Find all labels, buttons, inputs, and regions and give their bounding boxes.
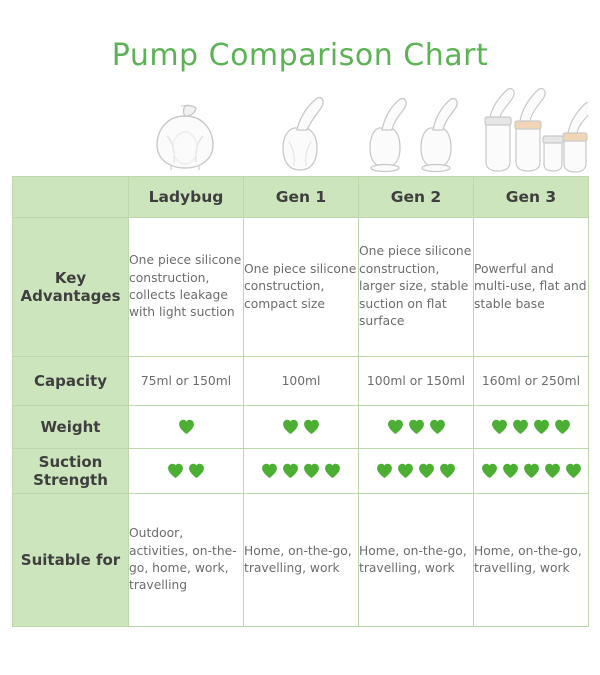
cell-weight-gen1 (244, 406, 359, 449)
cell-key-advantages-ladybug: One piece silicone construction, collect… (129, 218, 244, 357)
row-label-weight: Weight (13, 406, 129, 449)
header-cell-gen2: Gen 2 (359, 177, 474, 218)
heart-icon (324, 463, 341, 479)
table-row-suitable-for: Suitable for Outdoor, activities, on-the… (13, 494, 589, 627)
ladybug-pump-image (128, 82, 242, 176)
row-label-capacity: Capacity (13, 357, 129, 406)
row-label-suction-strength: Suction Strength (13, 449, 129, 494)
heart-icon (491, 419, 508, 435)
cell-weight-gen3 (474, 406, 589, 449)
heart-icon (429, 419, 446, 435)
pump-comparison-chart-page: Pump Comparison Chart (0, 0, 600, 675)
cell-suitable-gen3: Home, on-the-go, travelling, work (474, 494, 589, 627)
heart-icon (502, 463, 519, 479)
cell-capacity-ladybug: 75ml or 150ml (129, 357, 244, 406)
header-cell-gen1: Gen 1 (244, 177, 359, 218)
heart-icon (167, 463, 184, 479)
heart-icon (408, 419, 425, 435)
heart-rating (474, 419, 588, 435)
cell-weight-gen2 (359, 406, 474, 449)
cell-capacity-gen1: 100ml (244, 357, 359, 406)
gen2-pump-image (357, 82, 472, 176)
heart-rating (244, 419, 358, 435)
cell-suction-ladybug (129, 449, 244, 494)
heart-icon (533, 419, 550, 435)
heart-icon (397, 463, 414, 479)
heart-rating (474, 463, 588, 479)
heart-icon (282, 419, 299, 435)
heart-icon (261, 463, 278, 479)
cell-suction-gen2 (359, 449, 474, 494)
cell-capacity-gen3: 160ml or 250ml (474, 357, 589, 406)
heart-rating (129, 419, 243, 435)
heart-icon (439, 463, 456, 479)
cell-suction-gen3 (474, 449, 589, 494)
cell-suitable-gen1: Home, on-the-go, travelling, work (244, 494, 359, 627)
cell-key-advantages-gen3: Powerful and multi-use, flat and stable … (474, 218, 589, 357)
gen3-pump-image (472, 82, 588, 176)
heart-icon (523, 463, 540, 479)
heart-icon (565, 463, 582, 479)
page-title: Pump Comparison Chart (0, 38, 600, 73)
cell-suitable-ladybug: Outdoor, activities, on-the-go, home, wo… (129, 494, 244, 627)
heart-icon (376, 463, 393, 479)
heart-icon (303, 419, 320, 435)
heart-icon (481, 463, 498, 479)
heart-icon (512, 419, 529, 435)
cell-capacity-gen2: 100ml or 150ml (359, 357, 474, 406)
gen1-pump-image (242, 82, 357, 176)
table-row-suction-strength: Suction Strength (13, 449, 589, 494)
heart-rating (244, 463, 358, 479)
heart-rating (359, 463, 473, 479)
cell-key-advantages-gen1: One piece silicone construction, compact… (244, 218, 359, 357)
table-row-key-advantages: Key Advantages One piece silicone constr… (13, 218, 589, 357)
heart-icon (544, 463, 561, 479)
product-image-strip (12, 82, 588, 176)
cell-weight-ladybug (129, 406, 244, 449)
heart-icon (282, 463, 299, 479)
row-label-suitable-for: Suitable for (13, 494, 129, 627)
table-row-capacity: Capacity 75ml or 150ml 100ml 100ml or 15… (13, 357, 589, 406)
table-header-row: Ladybug Gen 1 Gen 2 Gen 3 (13, 177, 589, 218)
heart-icon (178, 419, 195, 435)
cell-key-advantages-gen2: One piece silicone construction, larger … (359, 218, 474, 357)
header-cell-blank (13, 177, 129, 218)
heart-icon (387, 419, 404, 435)
header-cell-ladybug: Ladybug (129, 177, 244, 218)
heart-rating (359, 419, 473, 435)
cell-suction-gen1 (244, 449, 359, 494)
heart-rating (129, 463, 243, 479)
table-row-weight: Weight (13, 406, 589, 449)
heart-icon (188, 463, 205, 479)
heart-icon (303, 463, 320, 479)
row-label-key-advantages: Key Advantages (13, 218, 129, 357)
heart-icon (554, 419, 571, 435)
cell-suitable-gen2: Home, on-the-go, travelling, work (359, 494, 474, 627)
header-cell-gen3: Gen 3 (474, 177, 589, 218)
heart-icon (418, 463, 435, 479)
comparison-table: Ladybug Gen 1 Gen 2 Gen 3 Key Advantages… (12, 176, 589, 627)
